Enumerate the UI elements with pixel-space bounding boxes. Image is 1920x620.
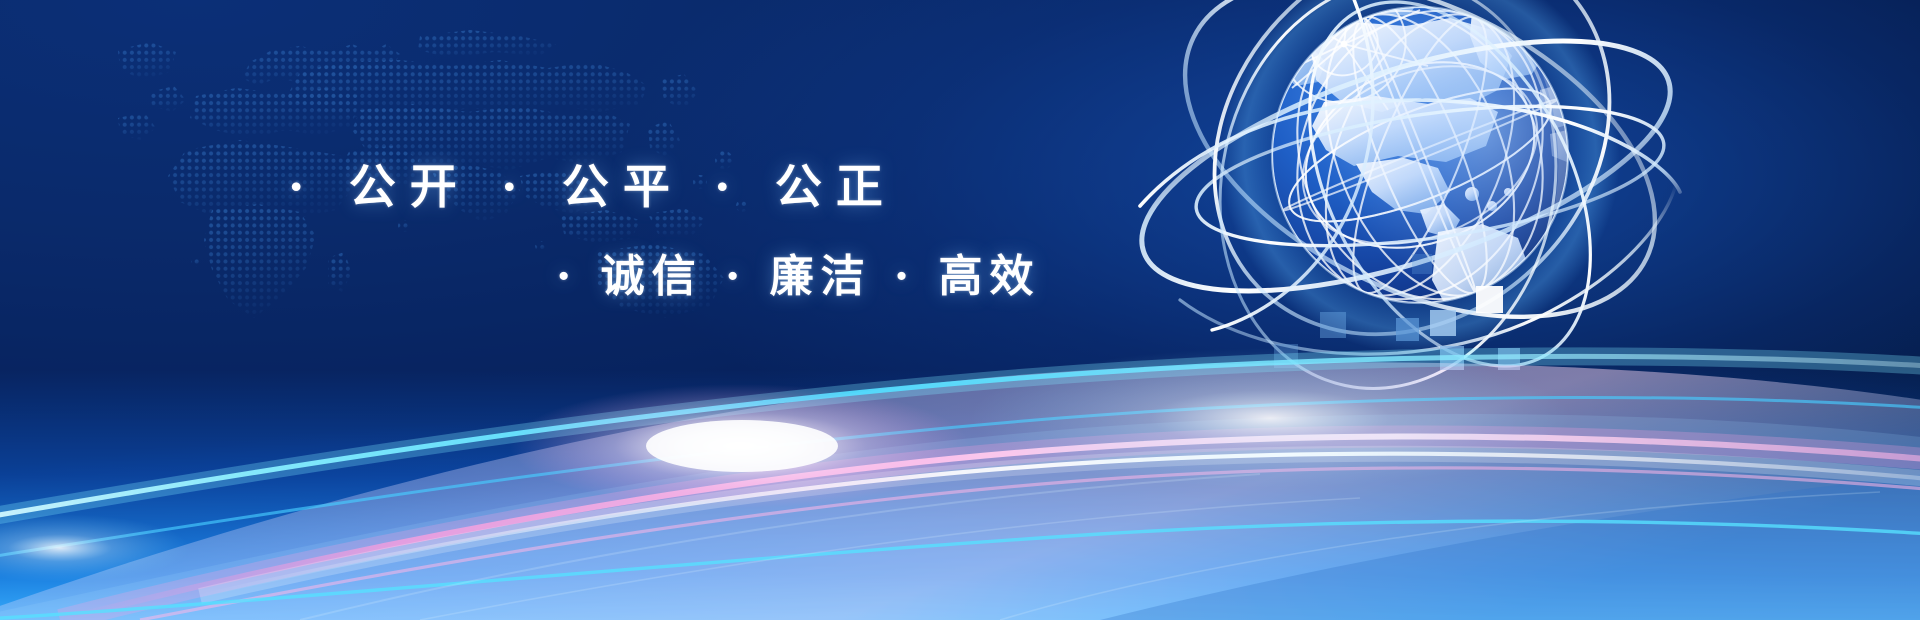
- hero-banner: · 公开 · 公平 · 公正 · 诚信 · 廉洁 · 高效: [0, 0, 1920, 620]
- square-white-large: [1476, 286, 1503, 313]
- square-translucent-3: [1412, 254, 1432, 274]
- square-lightblue-2: [1396, 318, 1419, 341]
- background-bottom-fill: [0, 370, 1920, 620]
- wireframe-globe: [1120, 0, 1680, 400]
- globe-meridians: [1255, 0, 1585, 336]
- globe-parallels: [1274, 29, 1567, 281]
- globe-landmass: [1270, 0, 1588, 322]
- square-translucent-1: [1320, 312, 1346, 338]
- orbit-light-streaks: [1114, 0, 1709, 420]
- slogan-line-2: · 诚信 · 廉洁 · 高效: [556, 240, 1041, 304]
- square-lightblue-3: [1440, 346, 1464, 370]
- banner-headline: · 公开 · 公平 · 公正 · 诚信 · 廉洁 · 高效: [0, 0, 1100, 360]
- decorative-squares: [1380, 250, 1680, 390]
- square-lightblue-4: [1498, 348, 1520, 370]
- slogan-line-1: · 公开 · 公平 · 公正: [288, 148, 897, 217]
- square-translucent-2: [1274, 344, 1298, 368]
- globe-pole-spokes: [1267, 0, 1428, 118]
- square-lightblue-1: [1430, 310, 1456, 336]
